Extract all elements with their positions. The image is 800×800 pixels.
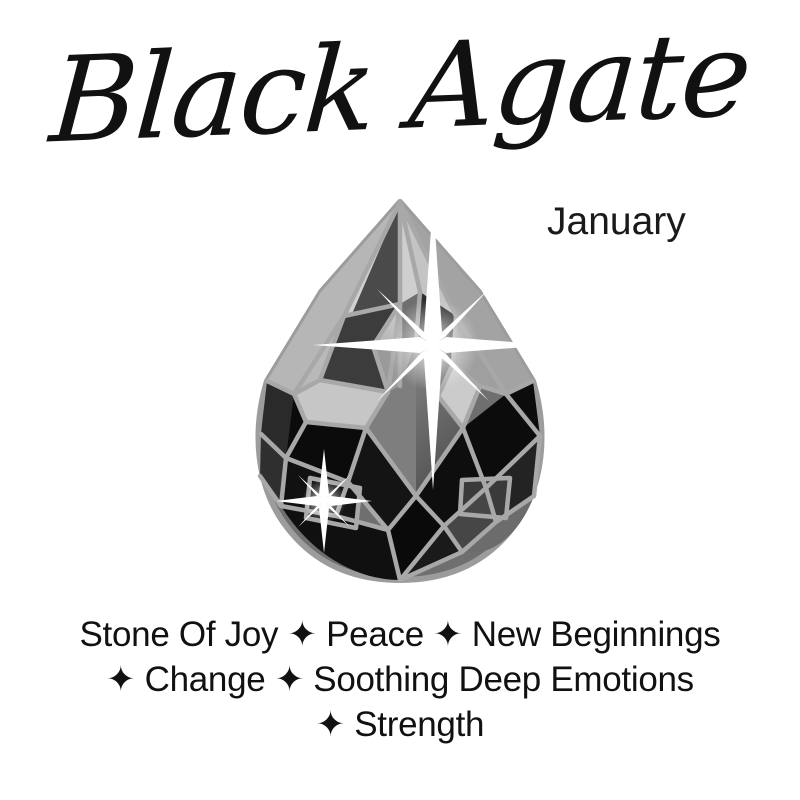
gem-body bbox=[259, 202, 542, 580]
gemstone-illustration bbox=[248, 196, 552, 586]
month-label: January bbox=[547, 200, 686, 244]
keywords-block: Stone Of Joy ✦ Peace ✦ New Beginnings ✦ … bbox=[0, 612, 800, 747]
keyword-line-2: ✦ Change ✦ Soothing Deep Emotions bbox=[0, 657, 800, 702]
gemstone-icon bbox=[248, 196, 552, 586]
page-title: Black Agate bbox=[47, 15, 753, 160]
keyword-line-3: ✦ Strength bbox=[0, 702, 800, 747]
keyword-line-1: Stone Of Joy ✦ Peace ✦ New Beginnings bbox=[0, 612, 800, 657]
title-container: Black Agate bbox=[0, 28, 800, 146]
birthstone-poster: Black Agate January bbox=[0, 0, 800, 800]
